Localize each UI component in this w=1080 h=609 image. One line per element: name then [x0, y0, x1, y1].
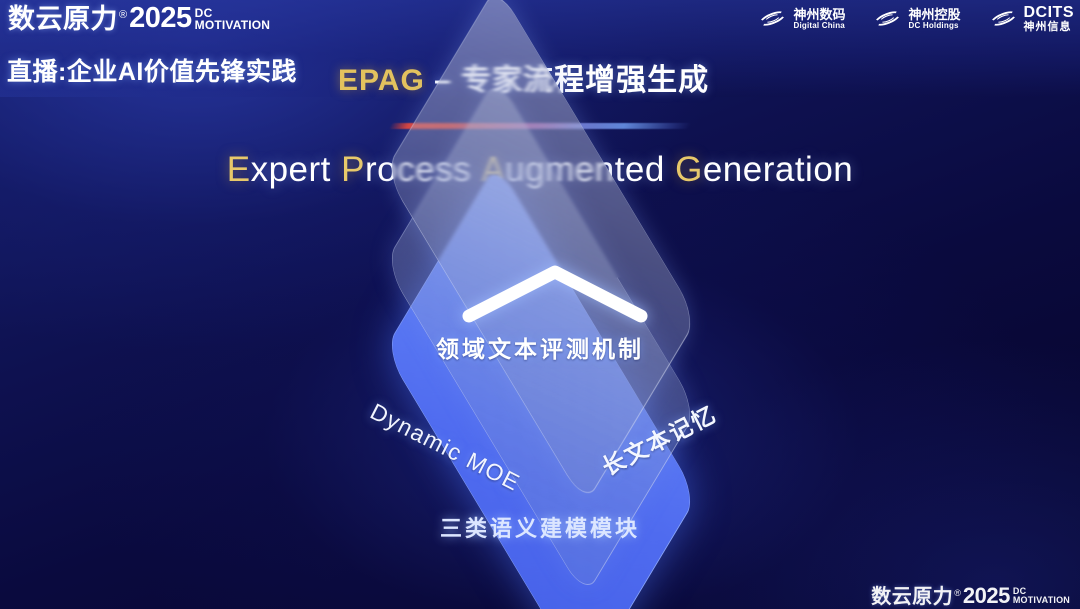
partner-logo-dc-holdings: 神州控股 DC Holdings	[873, 7, 960, 31]
subtitle-space-1	[331, 150, 341, 189]
subtitle-word-4-rest: eneration	[703, 150, 853, 189]
brand-name-cn: 数云原力	[8, 6, 118, 33]
brand-dc-line2: MOTIVATION	[195, 19, 271, 31]
partner-name-cn: 神州数码	[793, 8, 845, 22]
partner-logo-text: 神州控股 DC Holdings	[908, 8, 960, 30]
swirl-logo-icon	[758, 7, 788, 31]
partner-name-en: DC Holdings	[908, 22, 960, 30]
swirl-logo-icon	[989, 7, 1019, 31]
subtitle-word-4-initial: G	[675, 150, 703, 189]
brand-logo-footer: 数云原力 ® 2025 DC MOTIVATION	[871, 585, 1070, 607]
brand-logo-header: 数云原力 ® 2025 DC MOTIVATION	[8, 4, 270, 33]
registered-mark-icon: ®	[954, 588, 961, 598]
chevron-up-icon	[455, 258, 655, 328]
diagram-layer-bottom-label: 三类语义建模模块	[0, 511, 1080, 543]
partner-logo-digital-china: 神州数码 Digital China	[758, 7, 845, 31]
partner-logo-dcits: DCITS 神州信息	[989, 5, 1075, 33]
subtitle-word-1-initial: E	[227, 150, 251, 189]
brand-dc-line2: MOTIVATION	[1013, 596, 1070, 605]
registered-mark-icon: ®	[119, 9, 127, 21]
swirl-logo-icon	[873, 7, 903, 31]
live-stream-label: 直播:企业AI价值先锋实践	[7, 52, 297, 88]
brand-dc-motivation: DC MOTIVATION	[195, 7, 271, 31]
partner-logo-group: 神州数码 Digital China 神州控股 DC Holdings DCIT…	[758, 5, 1074, 33]
brand-year: 2025	[963, 585, 1010, 607]
partner-name-en: Digital China	[793, 22, 845, 30]
partner-name-cn: 神州信息	[1024, 22, 1075, 34]
partner-name-cn: 神州控股	[908, 8, 960, 22]
brand-year: 2025	[129, 4, 192, 33]
brand-dc-motivation: DC MOTIVATION	[1013, 587, 1070, 605]
title-acronym: EPAG	[338, 64, 425, 97]
diagram-layer-top-label: 领域文本评测机制	[0, 330, 1080, 364]
subtitle-space-3	[665, 150, 675, 189]
brand-name-cn: 数云原力	[871, 587, 953, 607]
partner-name-en: DCITS	[1024, 5, 1075, 22]
subtitle-word-1-rest: xpert	[251, 150, 331, 189]
partner-logo-text: 神州数码 Digital China	[793, 8, 845, 30]
subtitle-word-2-initial: P	[341, 150, 365, 189]
presentation-slide: 数云原力 ® 2025 DC MOTIVATION 直播:企业AI价值先锋实践 …	[0, 0, 1080, 609]
partner-logo-text: DCITS 神州信息	[1024, 5, 1075, 33]
